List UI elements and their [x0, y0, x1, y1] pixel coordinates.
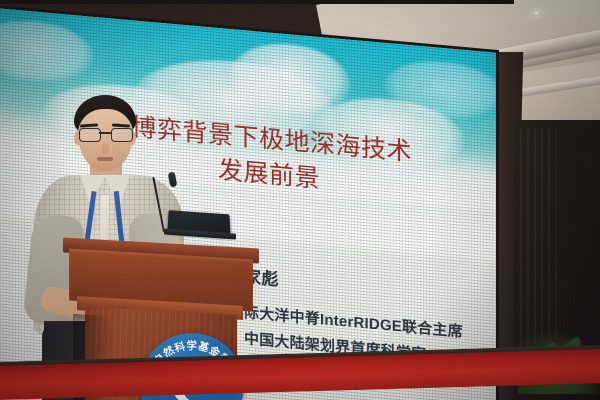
conference-photo-scene: 球博弈背景下极地深海技术 发展前景 家彪 际大洋中脊InterRIDGE联合主席…	[0, 0, 600, 400]
speaker-name: 家彪	[244, 266, 496, 313]
speaker-nose	[102, 143, 109, 154]
screen-bezel	[0, 0, 514, 4]
glasses-icon	[78, 128, 133, 140]
speaker-mouth	[97, 157, 113, 161]
